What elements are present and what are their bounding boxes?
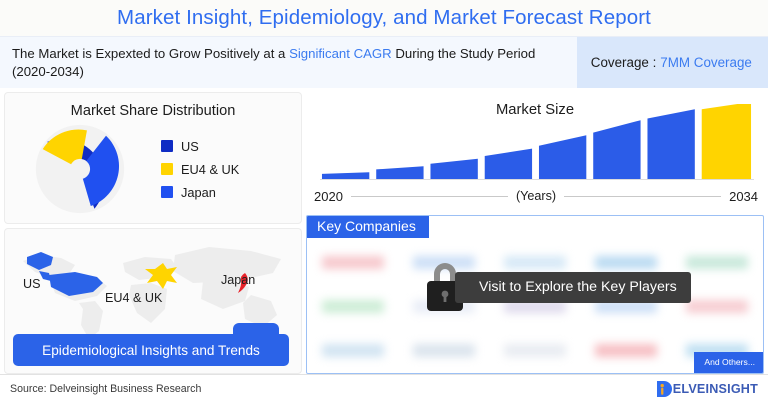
body-area: Market Share Distribution (0, 88, 768, 374)
market-share-card: Market Share Distribution (4, 92, 302, 224)
market-share-legend: US EU4 & UK Japan (155, 139, 239, 200)
legend-swatch-us (161, 140, 173, 152)
company-logo (504, 344, 566, 357)
coverage-value: 7MM Coverage (660, 55, 752, 70)
cagr-highlight: Significant CAGR (289, 46, 392, 61)
and-others-button[interactable]: And Others... (694, 352, 763, 373)
company-logo (322, 256, 384, 269)
axis-label-years: (Years) (516, 189, 556, 203)
coverage-badge: Coverage : 7MM Coverage (577, 37, 768, 88)
banner-notch (233, 323, 279, 339)
cagr-statement-part1: The Market is Expexted to Grow Positivel… (12, 46, 289, 61)
bar-2032 (647, 109, 694, 180)
locked-content-overlay: Visit to Explore the Key Players (419, 258, 691, 316)
map-label-eu4-uk: EU4 & UK (105, 291, 162, 305)
company-logo (686, 300, 748, 313)
delveinsight-wordmark: ELVEINSIGHT (673, 382, 758, 396)
coverage-label: Coverage : (591, 55, 657, 70)
bar-series (322, 104, 751, 180)
market-size-bar-svg (320, 104, 754, 180)
market-share-chart-wrap: US EU4 & UK Japan (5, 121, 301, 217)
subheader-bar: The Market is Expexted to Grow Positivel… (0, 36, 768, 88)
market-share-title: Market Share Distribution (5, 103, 301, 119)
company-logo (686, 256, 748, 269)
legend-label-eu4-uk: EU4 & UK (181, 162, 239, 177)
market-size-card: Market Size (306, 92, 764, 210)
axis-line-right (564, 196, 721, 197)
axis-label-end: 2034 (729, 189, 758, 204)
right-column: Market Size (306, 92, 764, 374)
map-label-japan: Japan (221, 273, 255, 287)
footer: Source: Delveinsight Business Research E… (0, 374, 768, 403)
legend-item-us: US (161, 139, 239, 154)
legend-item-japan: Japan (161, 185, 239, 200)
legend-label-us: US (181, 139, 199, 154)
key-companies-tab: Key Companies (306, 215, 429, 238)
company-logo (595, 344, 657, 357)
delveinsight-d-icon (656, 380, 673, 398)
epidemiology-banner[interactable]: Epidemiological Insights and Trends (13, 334, 289, 366)
report-infographic: Market Insight, Epidemiology, and Market… (0, 0, 768, 403)
bar-2022 (376, 166, 423, 180)
donut-chart (32, 121, 128, 217)
bar-2020 (322, 172, 369, 180)
axis-line-left (351, 196, 508, 197)
key-companies-card: Key Companies (306, 215, 764, 374)
epidemiology-banner-label: Epidemiological Insights and Trends (42, 343, 260, 358)
legend-label-japan: Japan (181, 185, 216, 200)
market-size-axis: 2020 (Years) 2034 (314, 186, 758, 206)
bar-2028 (539, 135, 586, 180)
source-text: Source: Delveinsight Business Research (10, 383, 201, 395)
axis-label-start: 2020 (314, 189, 343, 204)
left-column: Market Share Distribution (4, 92, 302, 374)
company-logo (413, 344, 475, 357)
page-title: Market Insight, Epidemiology, and Market… (117, 6, 651, 30)
delveinsight-logo: ELVEINSIGHT (656, 380, 758, 398)
donut-chart-holder (5, 121, 155, 217)
map-label-us: US (23, 277, 41, 291)
visit-key-players-tooltip[interactable]: Visit to Explore the Key Players (455, 272, 691, 303)
legend-swatch-japan (161, 186, 173, 198)
company-logo (322, 344, 384, 357)
bar-2030 (593, 120, 640, 180)
legend-swatch-eu4-uk (161, 163, 173, 175)
bar-2026 (485, 149, 532, 180)
bar-2034 (702, 104, 751, 180)
header-bar: Market Insight, Epidemiology, and Market… (0, 0, 768, 36)
bar-2024 (430, 159, 477, 180)
subheader-statement: The Market is Expexted to Grow Positivel… (0, 37, 577, 88)
market-size-bars (320, 104, 754, 180)
cagr-statement: The Market is Expexted to Grow Positivel… (12, 45, 565, 80)
legend-item-eu4-uk: EU4 & UK (161, 162, 239, 177)
company-logo (322, 300, 384, 313)
epidemiology-map-card: US EU4 & UK Japan Epidemiological Insigh… (4, 228, 302, 374)
